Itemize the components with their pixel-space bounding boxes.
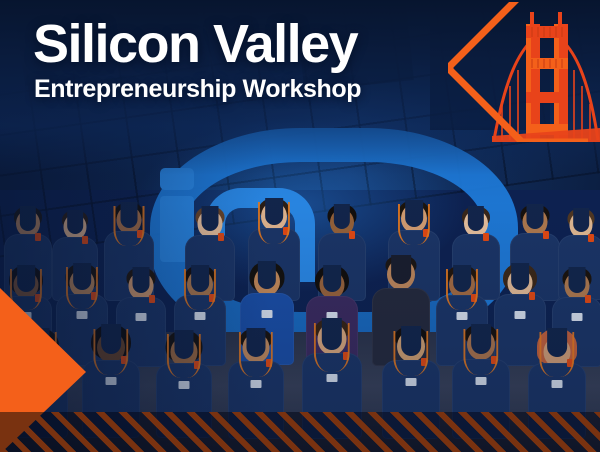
chevron-outline-graphic xyxy=(448,2,588,142)
headline-block: Silicon Valley Entrepreneurship Workshop xyxy=(33,18,361,102)
diagonal-stripe-band xyxy=(0,412,600,452)
poster: Silicon Valley Entrepreneurship Workshop xyxy=(0,0,600,452)
page-subtitle: Entrepreneurship Workshop xyxy=(34,77,361,102)
stripe-tint-overlay xyxy=(0,412,600,452)
page-title: Silicon Valley xyxy=(33,18,361,71)
